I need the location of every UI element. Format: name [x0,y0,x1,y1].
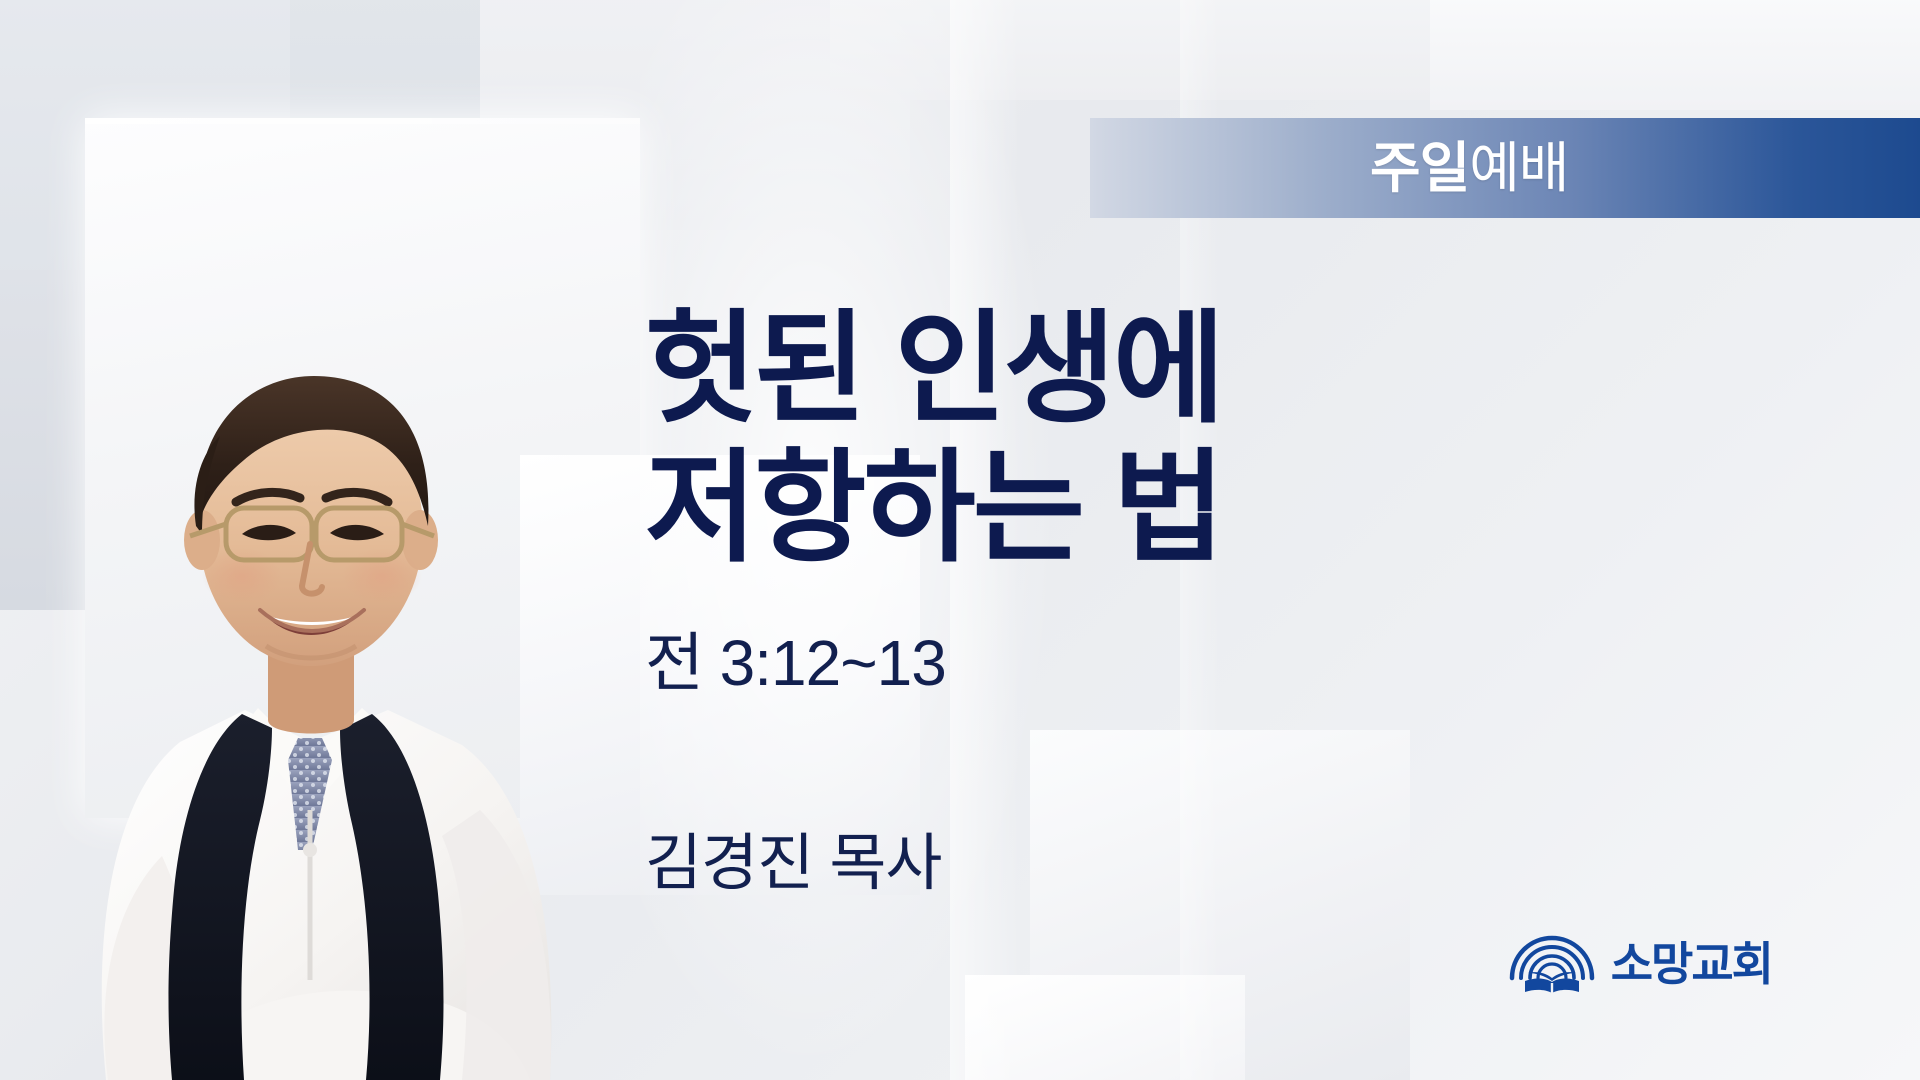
service-type-label-light: 예배 [1469,137,1568,199]
service-type-banner: 주일예배 [1090,118,1920,218]
sermon-title-line-2: 저항하는 법 [645,439,1545,578]
bg-panel-right-top [1430,0,1920,110]
church-logo: 소망교회 [1509,928,1772,994]
scripture-reference: 전 3:12~13 [645,612,1545,704]
service-type-label-bold: 주일 [1370,137,1469,199]
speaker-name: 김경진 목사 [645,812,1545,902]
sermon-title-card: 주일예배 [0,0,1920,1080]
service-type-label: 주일예배 [1370,141,1568,196]
sermon-title-line-1: 헛된 인생에 [645,300,1545,439]
church-name: 소망교회 [1611,928,1772,994]
pastor-portrait [10,290,630,1080]
rainbow-book-icon [1509,928,1595,994]
sermon-text-block: 헛된 인생에 저항하는 법 전 3:12~13 김경진 목사 [645,300,1545,902]
